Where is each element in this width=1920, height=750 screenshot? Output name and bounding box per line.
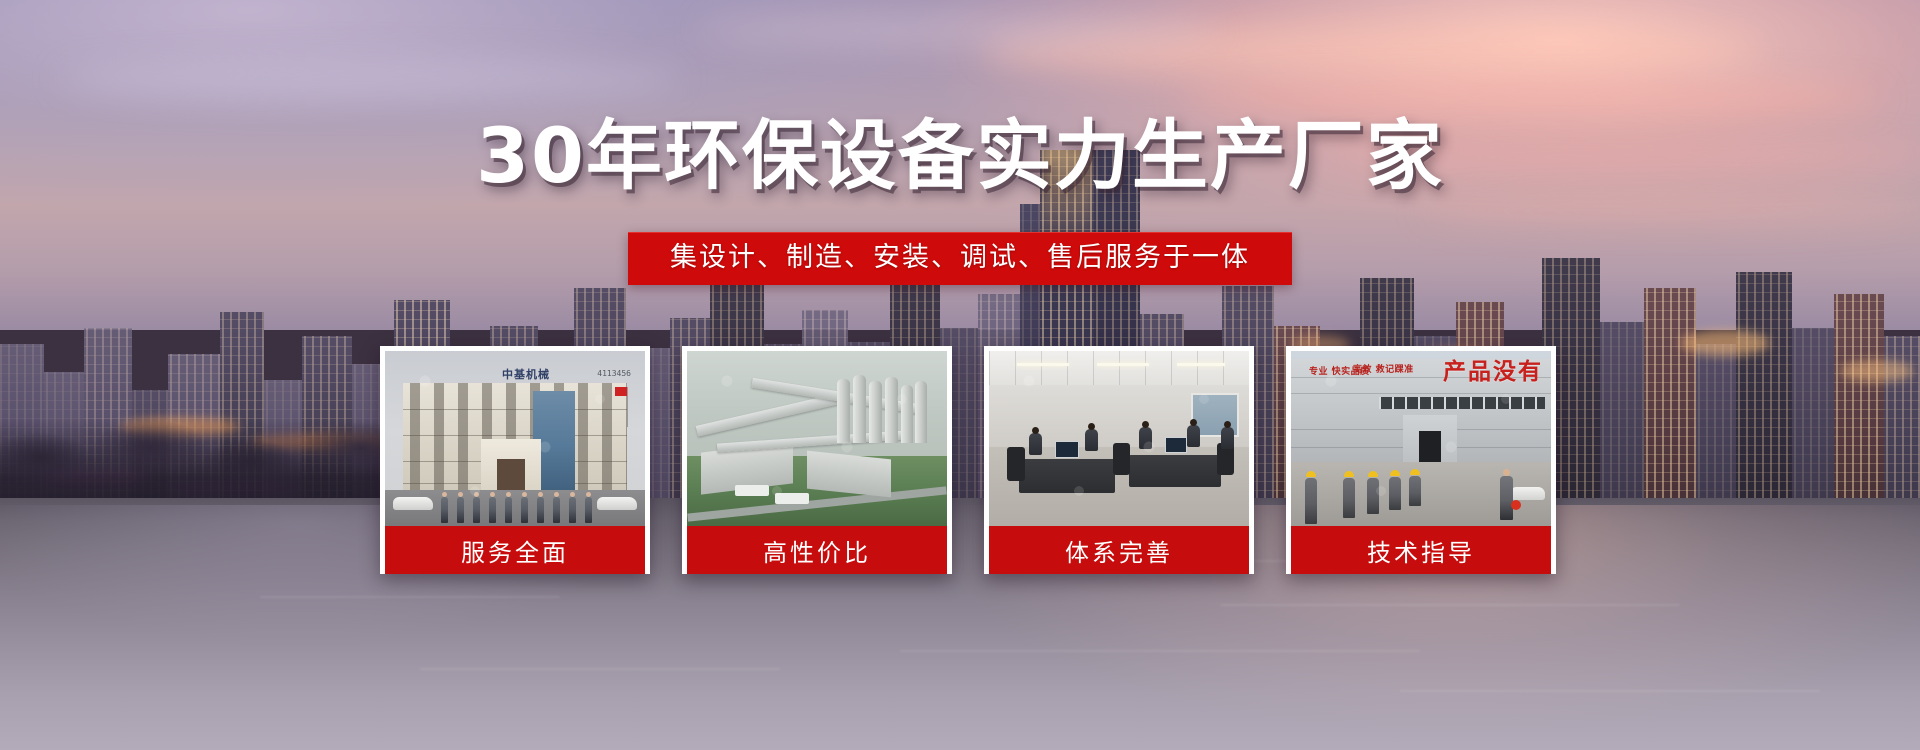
water-ripple [260,596,560,598]
delivery-truck [735,485,769,496]
delivery-truck [775,493,809,504]
feature-card[interactable]: 中基机械 4113456 服务全面 [380,346,650,574]
computer-monitor [1055,441,1079,458]
storage-silo [885,377,898,443]
building-phone-number: 4113456 [597,368,631,380]
worker-figure [1389,477,1401,510]
worker-figure [1409,476,1421,506]
water-ripple [1400,690,1820,692]
storage-silo [915,381,927,443]
storage-silo [869,381,882,443]
staff-figure [473,497,480,523]
feature-card[interactable]: 体系完善 [984,346,1254,574]
office-chair [1113,443,1130,475]
water-ripple [900,650,1420,652]
tagline-text: 集设计、制造、安装、调试、售后服务于一体 [670,243,1250,273]
storage-silo [853,375,866,443]
staff-figure [441,497,448,523]
office-desk [1019,459,1115,493]
feature-card-label: 高性价比 [687,526,947,574]
feature-card[interactable]: 产品没有 专业 快实品质 高效 救记踝准 技术指导 [1286,346,1556,574]
ceiling-lamp [1097,363,1149,366]
feature-card-label: 技术指导 [1291,526,1551,574]
building-signage: 中基机械 [471,367,581,383]
office-chair [1007,447,1025,481]
ceiling-lamp [1177,363,1225,366]
factory-wall-slogan-small: 高效 救记踝准 [1353,365,1414,375]
tagline-banner: 集设计、制造、安装、调试、售后服务于一体 [628,232,1292,285]
staff-figure [505,497,512,523]
worker-figure [1367,478,1379,514]
worker-figure [1343,478,1355,518]
worker-figure [1305,478,1317,524]
parked-car [1511,487,1545,500]
factory-yard-workers-photo: 产品没有 专业 快实品质 高效 救记踝准 [1291,351,1551,526]
flag-icon [615,387,627,396]
feature-card-label: 服务全面 [385,526,645,574]
water-ripple [1220,604,1680,606]
storage-silo [901,385,913,443]
factory-window-row [1379,397,1545,409]
office-interior-team-photo [989,351,1249,526]
flag-pole [627,387,628,427]
staff-figure [1139,427,1152,449]
page-title: 30年环保设备实力生产厂家 [0,118,1920,194]
red-helmet-icon [1511,500,1521,510]
office-desk [1129,455,1221,487]
computer-monitor [1165,437,1187,453]
factory-wall-slogan: 产品没有 [1443,361,1543,384]
storage-silo [837,379,850,443]
feature-card[interactable]: 高性价比 [682,346,952,574]
staff-figure [553,497,560,523]
staff-figure [489,497,496,523]
factory-door [1419,431,1441,463]
parked-car [393,497,433,510]
feature-card-label: 体系完善 [989,526,1249,574]
feature-card-row: 中基机械 4113456 服务全面 [380,346,1556,574]
staff-figure [1085,429,1098,451]
staff-figure [1187,425,1200,447]
hero-banner: 30年环保设备实力生产厂家 集设计、制造、安装、调试、售后服务于一体 [0,0,1920,750]
staff-figure [457,497,464,523]
staff-figure [1029,433,1042,455]
ceiling-lamp [1017,363,1069,366]
staff-figure [521,497,528,523]
building-signage-text: 中基机械 [471,367,581,383]
staff-figure [537,497,544,523]
parked-car [597,497,637,510]
staff-figure [585,497,592,523]
staff-figure [1221,427,1234,449]
water-ripple [420,668,780,670]
staff-figure [569,497,576,523]
aerial-production-plant-photo [687,351,947,526]
ceiling-grid [989,351,1249,385]
supervisor-figure [1500,476,1513,520]
company-office-building-photo: 中基机械 4113456 [385,351,645,526]
